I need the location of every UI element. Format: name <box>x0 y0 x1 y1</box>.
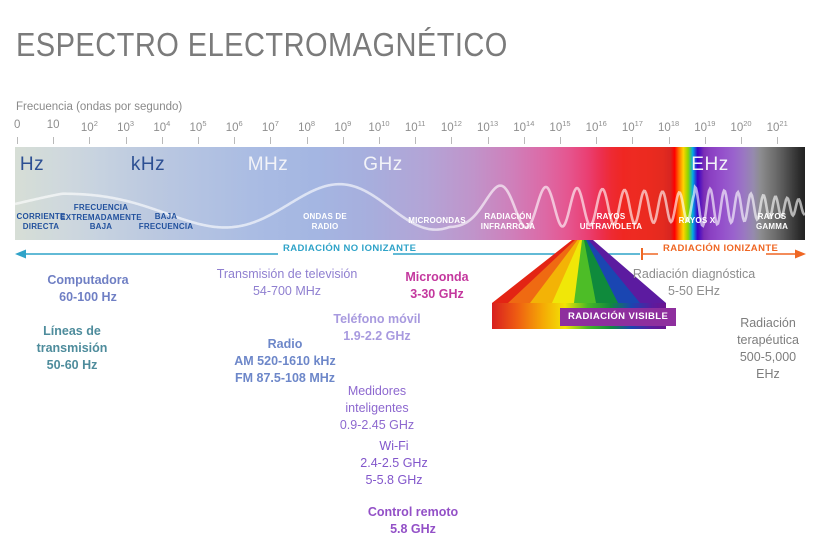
axis-tick-mark <box>53 137 54 144</box>
callout-name: Radiación terapéutica <box>737 315 799 349</box>
callout-value: 3-30 GHz <box>405 286 468 303</box>
axis-tick-label: 106 <box>226 119 243 134</box>
callout-value: 2.4-2.5 GHz 5-5.8 GHz <box>360 455 427 489</box>
axis-tick-label: 108 <box>298 119 315 134</box>
band-region-label: RAYOS ULTRAVIOLETA <box>580 212 642 231</box>
callout-name: Control remoto <box>368 504 458 521</box>
axis-tick-mark <box>705 137 706 144</box>
visible-radiation-chip: RADIACIÓN VISIBLE <box>560 308 676 326</box>
axis-tick-label: 105 <box>190 119 207 134</box>
callout-name: Transmisión de televisión <box>217 266 358 283</box>
axis-tick-mark <box>560 137 561 144</box>
axis-tick-mark <box>596 137 597 144</box>
axis-tick-mark <box>234 137 235 144</box>
spectrum-callout: Control remoto5.8 GHz <box>368 504 458 538</box>
axis-tick-mark <box>741 137 742 144</box>
axis-tick-mark <box>270 137 271 144</box>
axis-tick-label: 1020 <box>730 119 751 134</box>
axis-tick-mark <box>198 137 199 144</box>
callout-value: 54-700 MHz <box>217 283 358 300</box>
band-region-label: CORRIENTE DIRECTA <box>17 212 66 231</box>
callout-value: 60-100 Hz <box>47 289 128 306</box>
callout-value: 1.9-2.2 GHz <box>333 328 420 345</box>
spectrum-callout: RadioAM 520-1610 kHz FM 87.5-108 MHz <box>234 336 335 387</box>
spectrum-callout: Microonda3-30 GHz <box>405 269 468 303</box>
axis-tick-label: 1018 <box>658 119 679 134</box>
band-unit-label: EHz <box>691 154 728 176</box>
callout-name: Medidores inteligentes <box>340 383 414 417</box>
axis-tick-mark <box>669 137 670 144</box>
axis-tick-label: 1017 <box>622 119 643 134</box>
band-region-label: RAYOS X <box>679 216 716 226</box>
callout-value: 5-50 EHz <box>633 283 755 300</box>
axis-tick-mark <box>379 137 380 144</box>
non-ionizing-radiation-label: RADIACIÓN NO IONIZANTE <box>283 243 416 254</box>
spectrum-callout: Radiación terapéutica500-5,000 EHz <box>737 315 799 383</box>
axis-tick-label: 1014 <box>513 119 534 134</box>
band-unit-label: Hz <box>20 154 44 176</box>
callout-value: AM 520-1610 kHz FM 87.5-108 MHz <box>234 353 335 387</box>
axis-tick-label: 109 <box>334 119 351 134</box>
axis-tick-mark <box>162 137 163 144</box>
axis-tick-mark <box>17 137 18 144</box>
spectrum-callout: Computadora60-100 Hz <box>47 272 128 306</box>
axis-tick-label: 1012 <box>441 119 462 134</box>
axis-tick-mark <box>89 137 90 144</box>
band-unit-label: MHz <box>248 154 289 176</box>
axis-tick-label: 1010 <box>368 119 389 134</box>
spectrum-callout: Radiación diagnóstica5-50 EHz <box>633 266 755 300</box>
band-region-label: FRECUENCIA EXTREMADAMENTE BAJA <box>60 203 141 232</box>
axis-tick-label: 102 <box>81 119 98 134</box>
band-unit-label: kHz <box>131 154 165 176</box>
band-region-label: RAYOS GAMMA <box>756 212 788 231</box>
axis-tick-label: 1019 <box>694 119 715 134</box>
callout-name: Computadora <box>47 272 128 289</box>
axis-tick-mark <box>777 137 778 144</box>
axis-tick-label: 1011 <box>405 119 426 134</box>
callout-name: Radiación diagnóstica <box>633 266 755 283</box>
spectrum-callout: Wi-Fi2.4-2.5 GHz 5-5.8 GHz <box>360 438 427 489</box>
spectrum-callout: Medidores inteligentes0.9-2.45 GHz <box>340 383 414 434</box>
axis-tick-label: 1016 <box>586 119 607 134</box>
frequency-axis-caption: Frecuencia (ondas por segundo) <box>16 101 182 113</box>
axis-tick-label: 0 <box>14 119 20 131</box>
page-title: ESPECTRO ELECTROMAGNÉTICO <box>16 26 508 64</box>
ionizing-radiation-label: RADIACIÓN IONIZANTE <box>663 243 778 254</box>
callout-value: 50-60 Hz <box>37 357 108 374</box>
axis-tick-label: 104 <box>153 119 170 134</box>
spectrum-callout: Teléfono móvil1.9-2.2 GHz <box>333 311 420 345</box>
axis-tick-label: 107 <box>262 119 279 134</box>
axis-tick-label: 1013 <box>477 119 498 134</box>
callout-name: Radio <box>234 336 335 353</box>
spectrum-callout: Transmisión de televisión54-700 MHz <box>217 266 358 300</box>
callout-name: Microonda <box>405 269 468 286</box>
callout-name: Líneas de transmisión <box>37 323 108 357</box>
spectrum-callout: Líneas de transmisión50-60 Hz <box>37 323 108 374</box>
axis-tick-mark <box>415 137 416 144</box>
callout-name: Wi-Fi <box>360 438 427 455</box>
callout-value: 0.9-2.45 GHz <box>340 417 414 434</box>
band-region-label: MICROONDAS <box>408 216 466 226</box>
band-region-label: ONDAS DE RADIO <box>303 212 347 231</box>
callout-value: 5.8 GHz <box>368 521 458 538</box>
band-region-label: BAJA FRECUENCIA <box>139 212 193 231</box>
band-unit-label: GHz <box>363 154 403 176</box>
axis-tick-label: 1021 <box>767 119 788 134</box>
callout-value: 500-5,000 EHz <box>737 349 799 383</box>
axis-tick-mark <box>524 137 525 144</box>
axis-tick-mark <box>632 137 633 144</box>
axis-tick-label: 1015 <box>549 119 570 134</box>
axis-tick-label: 103 <box>117 119 134 134</box>
axis-tick-mark <box>488 137 489 144</box>
frequency-axis: 0101021031041051061071081091010101110121… <box>0 119 820 143</box>
axis-tick-mark <box>307 137 308 144</box>
axis-tick-mark <box>343 137 344 144</box>
axis-tick-mark <box>126 137 127 144</box>
axis-tick-label: 10 <box>47 119 60 131</box>
axis-tick-mark <box>451 137 452 144</box>
callout-name: Teléfono móvil <box>333 311 420 328</box>
radiation-arrows: RADIACIÓN NO IONIZANTE RADIACIÓN IONIZAN… <box>0 243 820 265</box>
band-region-label: RADIACIÓN INFRARROJA <box>481 212 535 231</box>
